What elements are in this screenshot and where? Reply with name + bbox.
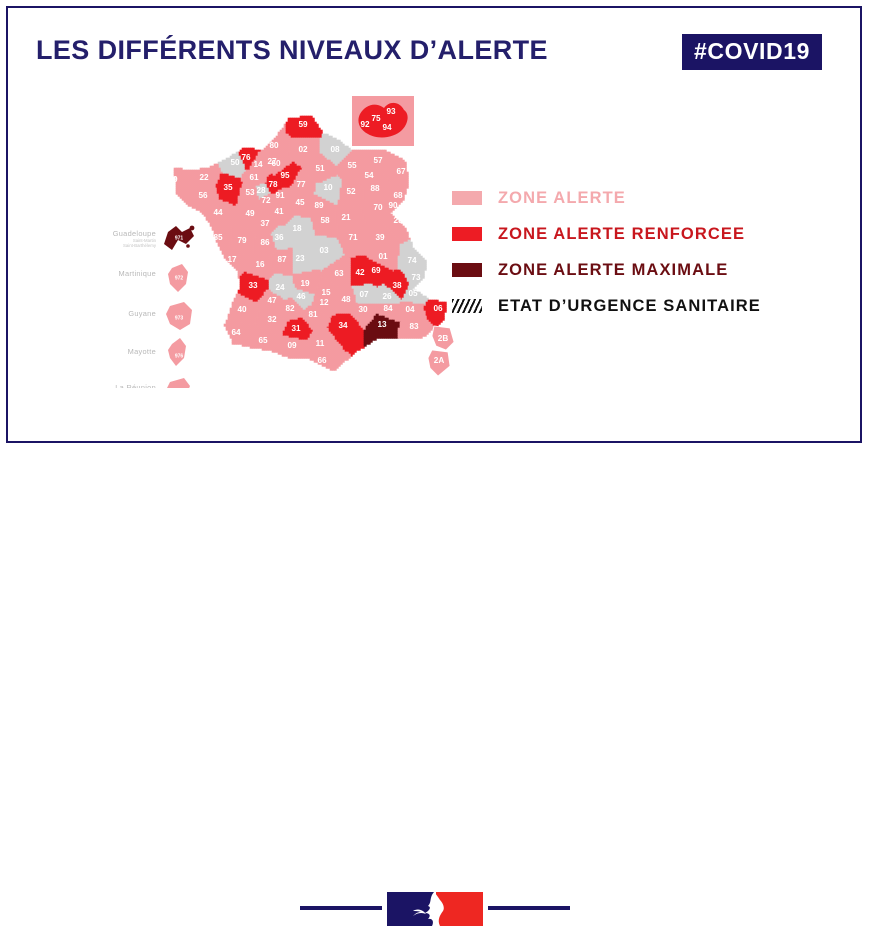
- france-alert-map: GuadeloupeSaint-MartinSaint-Barthélemy97…: [60, 88, 440, 408]
- department-label-52: 52: [346, 187, 356, 196]
- department-label-02: 02: [298, 145, 308, 154]
- map-department-shapes: [174, 116, 454, 376]
- department-label-46: 46: [296, 292, 306, 301]
- footer: [0, 443, 870, 489]
- department-label-33: 33: [248, 281, 258, 290]
- department-label-90: 90: [388, 201, 398, 210]
- department-label-95: 95: [280, 171, 290, 180]
- logo-blue-field: [387, 892, 434, 926]
- department-label-91: 91: [275, 191, 285, 200]
- paris-inset-label-94: 94: [382, 123, 392, 132]
- department-label-41: 41: [274, 207, 284, 216]
- department-label-14: 14: [253, 160, 263, 169]
- legend-label-zone-alerte-maximale: ZONE ALERTE MAXIMALE: [498, 261, 728, 280]
- department-label-16: 16: [255, 260, 265, 269]
- department-label-86: 86: [260, 238, 270, 247]
- department-label-78: 78: [268, 180, 278, 189]
- overseas-code-971: 971: [175, 235, 184, 241]
- legend-label-etat-urgence-sanitaire: ETAT D’URGENCE SANITAIRE: [498, 297, 761, 316]
- department-label-71: 71: [348, 233, 358, 242]
- department-label-49: 49: [245, 209, 255, 218]
- page-title: LES DIFFÉRENTS NIVEAUX D’ALERTE: [36, 35, 548, 66]
- department-label-05: 05: [408, 289, 418, 298]
- department-label-19: 19: [300, 279, 310, 288]
- infographic-root: LES DIFFÉRENTS NIVEAUX D’ALERTE #COVID19…: [0, 0, 870, 489]
- department-label-67: 67: [396, 167, 406, 176]
- department-label-65: 65: [258, 336, 268, 345]
- department-label-85: 85: [213, 233, 223, 242]
- legend-item-etat-urgence-sanitaire: ETAT D’URGENCE SANITAIRE: [452, 288, 822, 324]
- department-label-58: 58: [320, 216, 330, 225]
- department-label-04: 04: [405, 305, 415, 314]
- department-label-56: 56: [198, 191, 208, 200]
- department-label-70: 70: [373, 203, 383, 212]
- overseas-islet: [190, 226, 195, 231]
- department-label-35: 35: [223, 183, 233, 192]
- department-label-44: 44: [213, 208, 223, 217]
- department-label-39: 39: [375, 233, 385, 242]
- department-label-32: 32: [267, 315, 277, 324]
- department-label-80: 80: [269, 141, 279, 150]
- department-label-06: 06: [433, 304, 443, 313]
- map-paris-inset: 75929394: [352, 96, 414, 146]
- department-label-79: 79: [237, 236, 247, 245]
- department-label-22: 22: [199, 173, 209, 182]
- department-label-21: 21: [341, 213, 351, 222]
- department-label-81: 81: [308, 310, 318, 319]
- department-label-45: 45: [295, 198, 305, 207]
- department-label-48: 48: [341, 295, 351, 304]
- department-label-03: 03: [319, 246, 329, 255]
- department-label-37: 37: [260, 219, 270, 228]
- department-label-64: 64: [231, 328, 241, 337]
- department-label-53: 53: [245, 188, 255, 197]
- map-svg: GuadeloupeSaint-MartinSaint-Barthélemy97…: [60, 88, 460, 388]
- department-label-15: 15: [321, 288, 331, 297]
- department-label-40: 40: [237, 305, 247, 314]
- department-label-61: 61: [249, 173, 259, 182]
- department-label-62: 62: [263, 123, 273, 132]
- department-label-68: 68: [393, 191, 403, 200]
- overseas-code-973: 973: [175, 315, 184, 321]
- overseas-sublabel: Saint-Barthélemy: [123, 243, 157, 248]
- department-label-84: 84: [383, 304, 393, 313]
- legend-label-zone-alerte: ZONE ALERTE: [498, 189, 626, 208]
- department-label-42: 42: [355, 268, 365, 277]
- department-label-01: 01: [378, 252, 388, 261]
- department-label-57: 57: [373, 156, 383, 165]
- legend-label-zone-alerte-renforcee: ZONE ALERTE RENFORCEE: [498, 225, 745, 244]
- department-label-10: 10: [323, 183, 333, 192]
- department-label-24: 24: [275, 283, 285, 292]
- overseas-label-guyane: Guyane: [128, 309, 156, 318]
- department-label-69: 69: [371, 266, 381, 275]
- department-label-08: 08: [330, 145, 340, 154]
- department-label-07: 07: [359, 290, 369, 299]
- department-label-73: 73: [411, 273, 421, 282]
- overseas-label-la-réunion: La Réunion: [115, 383, 156, 388]
- department-label-87: 87: [277, 255, 287, 264]
- department-label-77: 77: [296, 180, 306, 189]
- department-label-18: 18: [292, 224, 302, 233]
- department-label-29: 29: [168, 175, 178, 184]
- department-label-23: 23: [295, 254, 305, 263]
- map-overseas-shapes: GuadeloupeSaint-MartinSaint-Barthélemy97…: [113, 226, 195, 388]
- department-label-11: 11: [316, 339, 325, 348]
- department-label-27: 27: [267, 157, 277, 166]
- footer-rule-left: [300, 906, 382, 910]
- department-label-13: 13: [377, 320, 387, 329]
- department-label-72: 72: [261, 196, 271, 205]
- department-label-28: 28: [256, 186, 266, 195]
- department-label-38: 38: [392, 281, 402, 290]
- department-label-12: 12: [319, 298, 329, 307]
- hashtag-badge: #COVID19: [682, 34, 822, 70]
- department-label-82: 82: [285, 304, 295, 313]
- department-label-76: 76: [241, 153, 251, 162]
- department-label-74: 74: [407, 256, 417, 265]
- overseas-shape-mayotte: [168, 338, 186, 366]
- overseas-islet: [186, 244, 190, 248]
- overseas-code-972: 972: [175, 275, 184, 281]
- department-label-55: 55: [347, 161, 357, 170]
- legend-item-zone-alerte-renforcee: ZONE ALERTE RENFORCEE: [452, 216, 822, 252]
- department-66: [306, 352, 350, 370]
- paris-inset-label-93: 93: [386, 107, 396, 116]
- department-label-09: 09: [287, 341, 297, 350]
- republique-francaise-logo: [385, 889, 485, 929]
- overseas-code-976: 976: [175, 353, 184, 359]
- legend-item-zone-alerte-maximale: ZONE ALERTE MAXIMALE: [452, 252, 822, 288]
- department-label-47: 47: [267, 296, 277, 305]
- department-label-30: 30: [358, 305, 368, 314]
- department-label-36: 36: [274, 233, 284, 242]
- department-label-2A: 2A: [434, 356, 445, 365]
- department-label-63: 63: [334, 269, 344, 278]
- department-label-31: 31: [291, 324, 301, 333]
- department-label-26: 26: [382, 292, 392, 301]
- overseas-label-mayotte: Mayotte: [128, 347, 156, 356]
- overseas-label-guadeloupe: Guadeloupe: [113, 229, 156, 238]
- footer-rule-right: [488, 906, 570, 910]
- department-label-34: 34: [338, 321, 348, 330]
- legend: ZONE ALERTE ZONE ALERTE RENFORCEE ZONE A…: [452, 180, 822, 324]
- department-label-59: 59: [298, 120, 308, 129]
- paris-inset-label-92: 92: [360, 120, 370, 129]
- department-label-89: 89: [314, 201, 324, 210]
- paris-inset-label-75: 75: [371, 114, 381, 123]
- department-label-54: 54: [364, 171, 374, 180]
- department-label-25: 25: [393, 216, 403, 225]
- department-label-51: 51: [315, 164, 325, 173]
- legend-item-zone-alerte: ZONE ALERTE: [452, 180, 822, 216]
- department-label-66: 66: [317, 356, 327, 365]
- department-label-83: 83: [409, 322, 419, 331]
- department-label-50: 50: [230, 158, 240, 167]
- overseas-label-martinique: Martinique: [118, 269, 156, 278]
- overseas-shape-la-réunion: [166, 378, 190, 388]
- department-label-17: 17: [227, 255, 237, 264]
- department-label-88: 88: [370, 184, 380, 193]
- department-label-2B: 2B: [438, 334, 449, 343]
